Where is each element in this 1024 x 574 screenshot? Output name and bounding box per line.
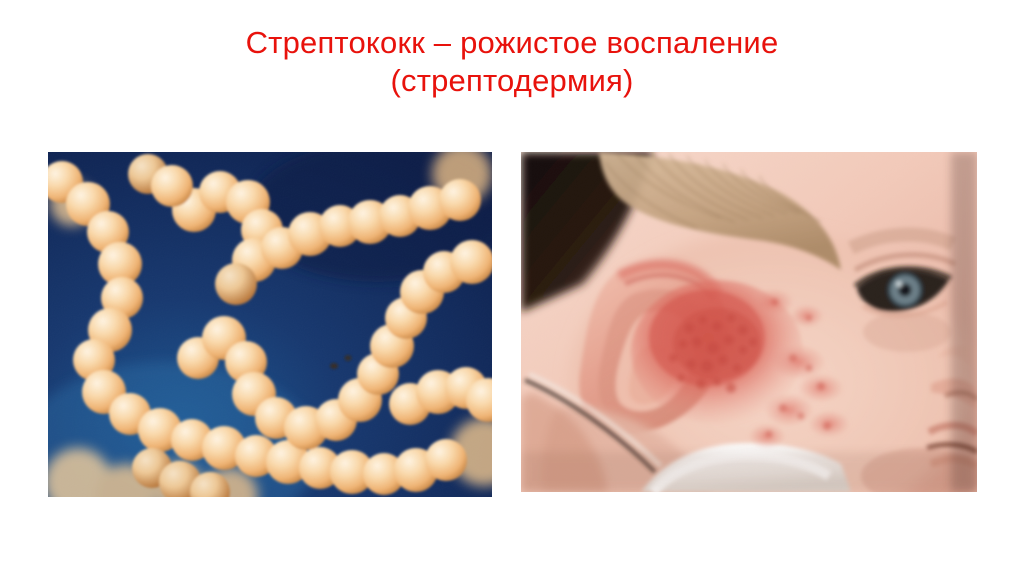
page-title: Стрептококк – рожистое воспаление (стреп… [92,24,932,100]
streptococcus-micrograph-image [48,152,492,497]
streptococcus-micrograph-svg [48,152,492,497]
erysipelas-infant-face-image [521,152,977,492]
slide: Стрептококк – рожистое воспаление (стреп… [0,0,1024,574]
title-line-1: Стрептококк – рожистое воспаление [92,24,932,62]
erysipelas-infant-face-svg [521,152,977,492]
title-line-2: (стрептодермия) [92,62,932,100]
